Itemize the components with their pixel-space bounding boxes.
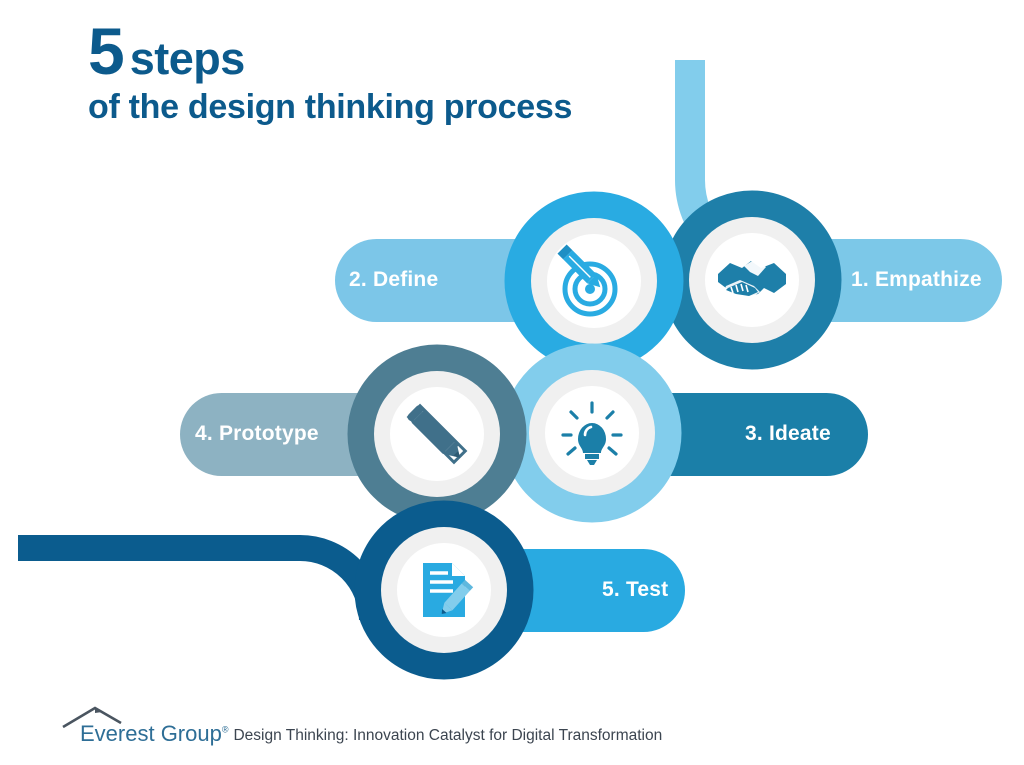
step-label-empathize[interactable]: 1. Empathize	[851, 268, 982, 292]
footer: Everest Group® Design Thinking: Innovati…	[62, 700, 662, 744]
connector-exit-tail-bottom-left	[18, 548, 372, 620]
step-label-ideate[interactable]: 3. Ideate	[745, 422, 831, 446]
step-label-define[interactable]: 2. Define	[349, 268, 438, 292]
infographic-canvas: 5 steps of the design thinking process	[0, 0, 1024, 765]
step-label-test[interactable]: 5. Test	[602, 578, 668, 602]
registered-mark-icon: ®	[222, 725, 229, 735]
logo-wordmark: Everest Group	[80, 721, 222, 746]
everest-group-logo: Everest Group®	[62, 704, 228, 744]
footer-caption: Design Thinking: Innovation Catalyst for…	[233, 728, 662, 744]
process-flow-diagram	[0, 0, 1024, 700]
step-label-prototype[interactable]: 4. Prototype	[195, 422, 319, 446]
logo-text: Everest Group®	[80, 723, 228, 745]
